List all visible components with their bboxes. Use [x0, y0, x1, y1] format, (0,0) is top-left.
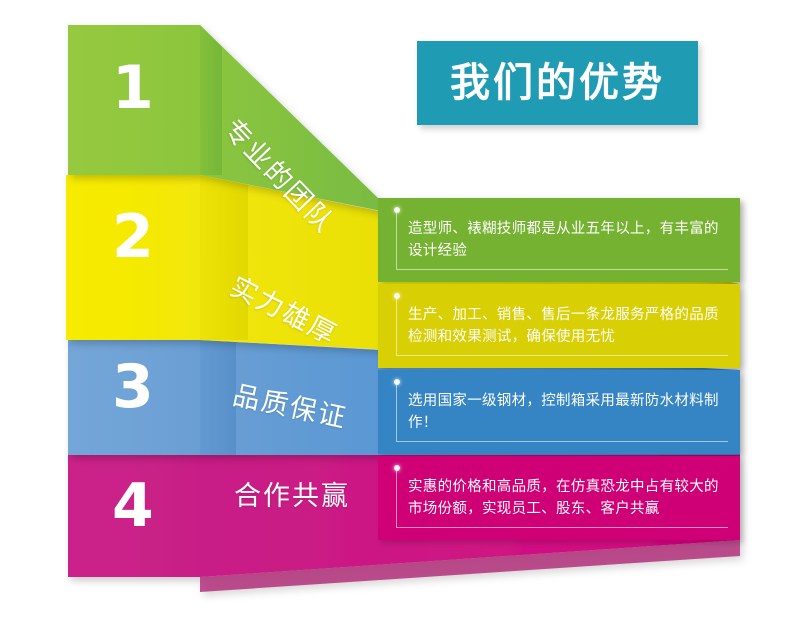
- bullet-dot-icon: [394, 379, 400, 385]
- page-title: 我们的优势: [450, 63, 665, 103]
- bullet-dot-icon: [394, 207, 400, 213]
- number-label-4: 4: [112, 476, 154, 536]
- content-panel-3: 选用国家一级钢材，控制箱采用最新防水材料制作！: [378, 370, 740, 454]
- panel-text-1: 造型师、裱糊技师都是从业五年以上，有丰富的设计经验: [408, 218, 720, 263]
- number-label-3: 3: [112, 357, 154, 417]
- panel-text-4: 实惠的价格和高品质，在仿真恐龙中占有较大的市场份额，实现员工、股东、客户共赢: [408, 476, 720, 521]
- content-panel-2: 生产、加工、销售、售后一条龙服务严格的品质检测和效果测试，确保使用无忧: [378, 284, 740, 368]
- bullet-dot-icon: [394, 293, 400, 299]
- ribbon-label-4: 合作共赢: [234, 483, 350, 510]
- number-block-side-2: [200, 175, 248, 340]
- content-panel-1: 造型师、裱糊技师都是从业五年以上，有丰富的设计经验: [378, 198, 740, 282]
- panel-text-3: 选用国家一级钢材，控制箱采用最新防水材料制作！: [408, 390, 720, 435]
- panel-text-2: 生产、加工、销售、售后一条龙服务严格的品质检测和效果测试，确保使用无忧: [408, 304, 720, 349]
- number-block-side-1: [200, 25, 222, 175]
- number-block-side-3: [200, 340, 236, 455]
- number-label-2: 2: [112, 207, 154, 267]
- infographic-canvas: 1 2 3 4 专业的团队 实力雄厚 品质保证 合作共赢 我们的优势 造型师、裱…: [0, 0, 800, 622]
- bullet-dot-icon: [394, 465, 400, 471]
- title-banner: 我们的优势: [417, 41, 698, 125]
- content-panel-4: 实惠的价格和高品质，在仿真恐龙中占有较大的市场份额，实现员工、股东、客户共赢: [378, 456, 740, 540]
- number-label-1: 1: [112, 58, 154, 118]
